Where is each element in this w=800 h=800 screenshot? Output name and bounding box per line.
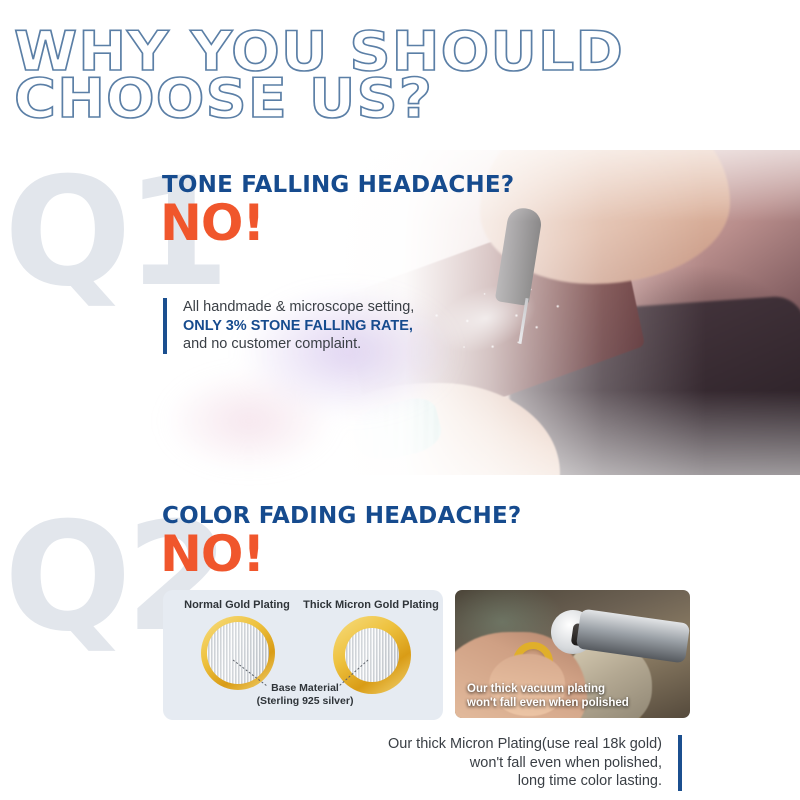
q1-answer: NO! [160, 198, 264, 248]
photo-caption: Our thick vacuum plating won't fall even… [467, 682, 629, 710]
label-thick-micron-gold-plating: Thick Micron Gold Plating [301, 599, 441, 611]
page-title: WHY YOU SHOULD CHOOSE US? [14, 28, 714, 122]
gold-plating-diagram: Normal Gold Plating Thick Micron Gold Pl… [163, 590, 443, 720]
q1-note-block: All handmade & microscope setting, ONLY … [163, 298, 414, 354]
section-q2: Q2 COLOR FADING HEADACHE? NO! Normal Gol… [0, 495, 800, 795]
photo-caption-line-1: Our thick vacuum plating [467, 682, 629, 696]
q2-blurb-block: Our thick Micron Plating(use real 18k go… [388, 735, 682, 791]
coin-normal-plating [201, 616, 275, 690]
polishing-photo: Our thick vacuum plating won't fall even… [455, 590, 690, 718]
q2-blurb-line-3: long time color lasting. [388, 772, 662, 791]
base-material-line-1: Base Material [225, 682, 385, 695]
q2-answer: NO! [160, 529, 264, 579]
q2-blurb-line-2: won't fall even when polished, [388, 754, 662, 773]
q1-note-line-2: ONLY 3% STONE FALLING RATE, [183, 317, 414, 336]
title-line-2: CHOOSE US? [14, 75, 756, 122]
photo-caption-line-2: won't fall even when polished [467, 696, 629, 710]
base-material-caption: Base Material (Sterling 925 silver) [225, 682, 385, 707]
q1-note-line-3: and no customer complaint. [183, 335, 414, 354]
label-normal-gold-plating: Normal Gold Plating [171, 599, 303, 611]
infographic-page: WHY YOU SHOULD CHOOSE US? Q1 TONE FALLIN… [0, 0, 800, 800]
base-material-line-2: (Sterling 925 silver) [225, 695, 385, 708]
q2-blurb-line-1: Our thick Micron Plating(use real 18k go… [388, 735, 662, 754]
q1-note-line-1: All handmade & microscope setting, [183, 298, 414, 317]
silver-core [207, 622, 269, 684]
silver-core [345, 628, 399, 682]
